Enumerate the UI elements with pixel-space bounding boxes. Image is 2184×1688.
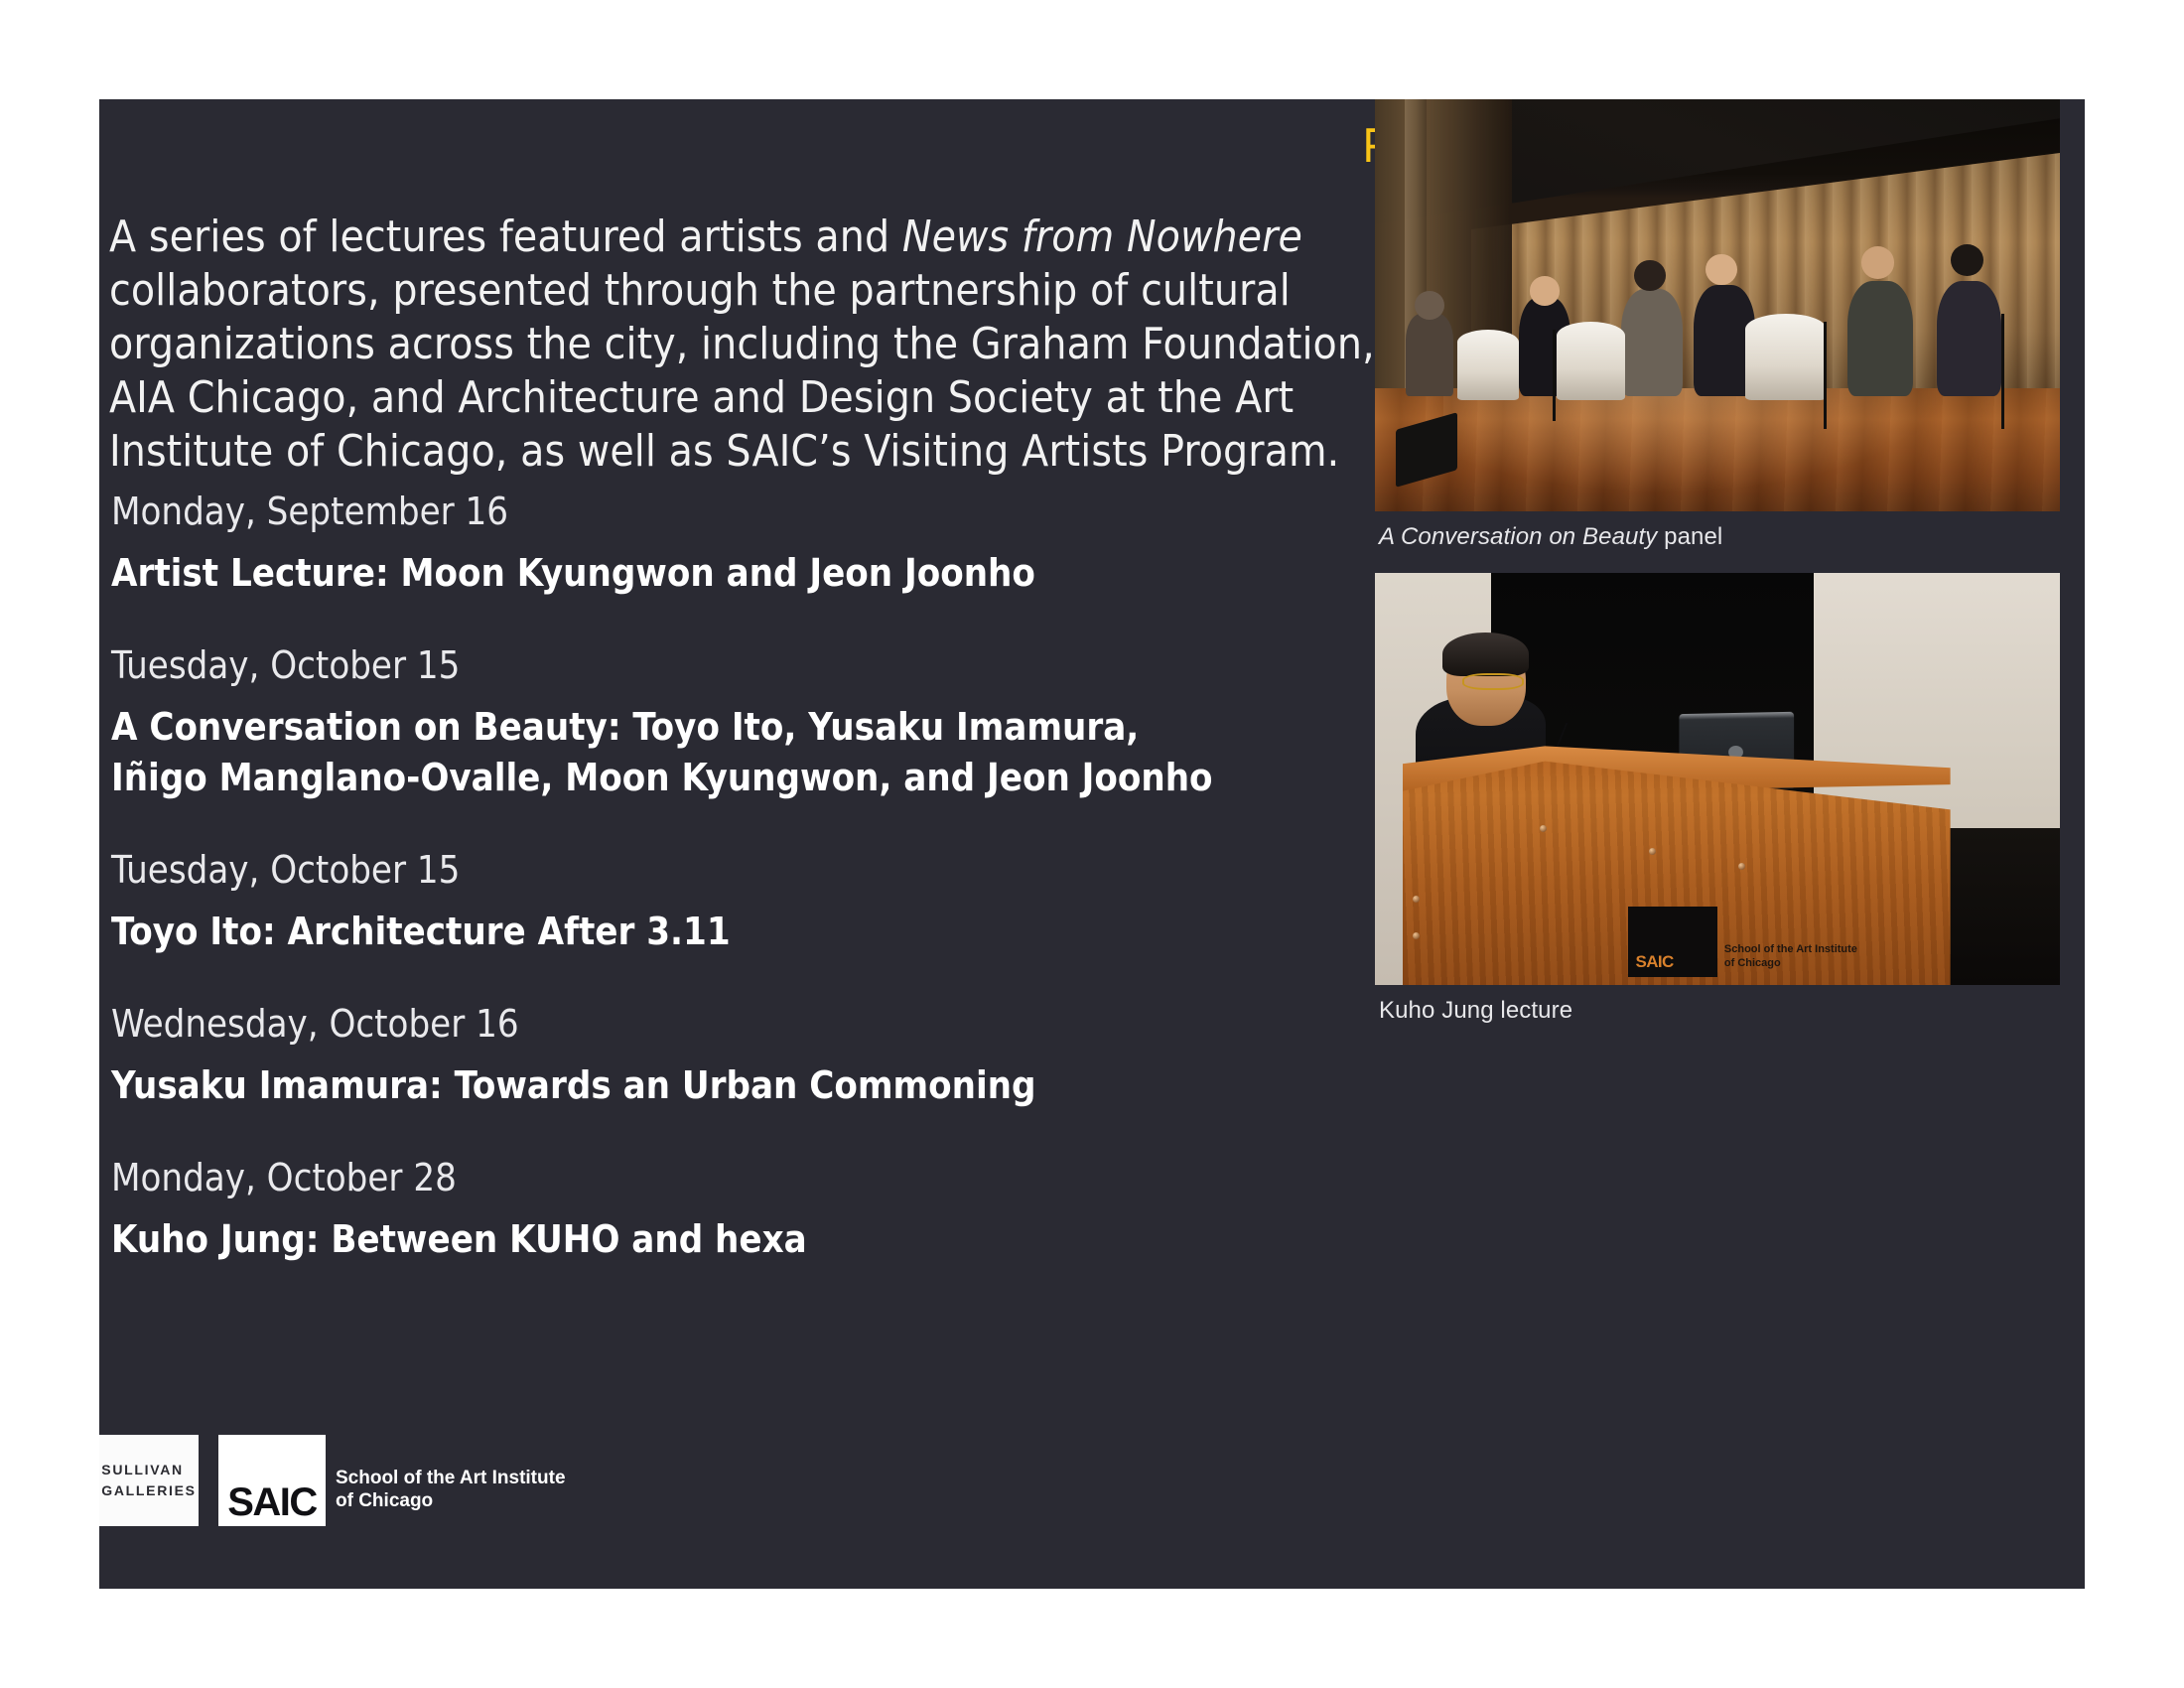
photo-column: A Conversation on Beauty panel [1375, 99, 2070, 1025]
event-title-line1: Toyo Ito: Architecture After 3.11 [111, 910, 731, 953]
stage-floor [1375, 388, 2060, 512]
panel-discussion-photo [1375, 99, 2060, 511]
event-title-line1: A Conversation on Beauty: Toyo Ito, Yusa… [111, 705, 1139, 749]
cocktail-table [1745, 314, 1828, 400]
auditorium-wall-right [1814, 573, 2060, 828]
figure-caption: A Conversation on Beauty panel [1375, 523, 2070, 551]
sullivan-galleries-text: SULLIVAN GALLERIES [101, 1460, 196, 1501]
sullivan-line-1: SULLIVAN [101, 1460, 196, 1480]
panelist-head [1951, 244, 1983, 276]
panelist-head [1861, 246, 1894, 278]
event-item: Tuesday, October 15 Toyo Ito: Architectu… [111, 845, 1332, 957]
panelist-head [1706, 254, 1737, 285]
sullivan-line-2: GALLERIES [101, 1480, 196, 1501]
saic-wordmark: SAIC [227, 1483, 317, 1526]
event-date: Tuesday, October 15 [111, 640, 1332, 690]
event-date: Tuesday, October 15 [111, 845, 1332, 895]
podium-screw [1738, 863, 1745, 870]
event-item: Monday, October 28 Kuho Jung: Between KU… [111, 1153, 1332, 1265]
podium-lecture-photo: SAIC School of the Art Institute of Chic… [1375, 573, 2060, 985]
panelist-head [1634, 260, 1666, 291]
panelist-head [1530, 276, 1560, 305]
event-title: A Conversation on Beauty: Toyo Ito, Yusa… [111, 702, 1332, 803]
speaker-hair [1442, 633, 1529, 676]
intro-part2: collaborators, presented through the par… [109, 265, 1375, 477]
event-title-line1: Artist Lecture: Moon Kyungwon and Jeon J… [111, 551, 1035, 595]
event-title: Kuho Jung: Between KUHO and hexa [111, 1214, 1332, 1265]
intro-part1: A series of lectures featured artists an… [109, 211, 902, 262]
panelist-head [1415, 291, 1444, 320]
microphone-stand [2001, 314, 2004, 429]
saic-wordmark-box: SAIC [218, 1435, 326, 1526]
caption-rest: Kuho Jung lecture [1379, 997, 1572, 1024]
panelist-figure [1406, 314, 1453, 396]
saic-logo: SAIC School of the Art Institute of Chic… [218, 1435, 566, 1526]
eyeglasses-icon [1462, 673, 1524, 690]
events-list: Monday, September 16 Artist Lecture: Moo… [111, 487, 1332, 1265]
microphone-stand [1553, 330, 1556, 420]
caption-rest: panel [1657, 523, 1722, 550]
panelist-figure [1621, 289, 1683, 396]
saic-subtitle: School of the Art Institute of Chicago [326, 1467, 566, 1526]
panelist-figure [1847, 281, 1913, 396]
event-item: Monday, September 16 Artist Lecture: Moo… [111, 487, 1332, 599]
event-date: Monday, September 16 [111, 487, 1332, 536]
panelist-figure [1937, 281, 2002, 396]
event-item: Wednesday, October 16 Yusaku Imamura: To… [111, 999, 1332, 1111]
event-date: Monday, October 28 [111, 1153, 1332, 1202]
event-title-line1: Yusaku Imamura: Towards an Urban Commoni… [111, 1063, 1035, 1107]
saic-subtitle-line-2: of Chicago [336, 1489, 566, 1512]
microphone-stand [1824, 322, 1827, 429]
intro-italic-title: News from Nowhere [902, 211, 1302, 262]
sullivan-galleries-logo: SULLIVAN GALLERIES [99, 1435, 199, 1526]
logo-row: SULLIVAN GALLERIES SAIC School of the Ar… [99, 1435, 566, 1526]
caption-italic-title: A Conversation on Beauty [1379, 523, 1657, 550]
podium-saic-subtitle: School of the Art Institute of Chicago [1724, 943, 1857, 971]
figure-caption: Kuho Jung lecture [1375, 997, 2070, 1025]
saic-subtitle-line-1: School of the Art Institute [336, 1467, 566, 1489]
podium-saic-wordmark: SAIC [1635, 952, 1673, 972]
figure-lecture: SAIC School of the Art Institute of Chic… [1375, 573, 2070, 1025]
event-title-line2: Iñigo Manglano-Ovalle, Moon Kyungwon, an… [111, 753, 1332, 803]
event-item: Tuesday, October 15 A Conversation on Be… [111, 640, 1332, 803]
event-title: Artist Lecture: Moon Kyungwon and Jeon J… [111, 548, 1332, 599]
podium-saic-plate: SAIC [1628, 907, 1717, 977]
cocktail-table [1457, 330, 1519, 400]
slide-panel: PUBLIC and SAIC ENGAGEMENT A series of l… [99, 99, 2085, 1589]
intro-paragraph: A series of lectures featured artists an… [109, 211, 1380, 480]
event-title: Toyo Ito: Architecture After 3.11 [111, 907, 1332, 957]
event-date: Wednesday, October 16 [111, 999, 1332, 1049]
podium-saic-sub-line-2: of Chicago [1724, 957, 1857, 971]
event-title: Yusaku Imamura: Towards an Urban Commoni… [111, 1060, 1332, 1111]
cocktail-table [1557, 322, 1625, 400]
podium-screw [1413, 896, 1420, 903]
figure-panel: A Conversation on Beauty panel [1375, 99, 2070, 551]
event-title-line1: Kuho Jung: Between KUHO and hexa [111, 1217, 807, 1261]
podium-saic-sub-line-1: School of the Art Institute [1724, 943, 1857, 957]
